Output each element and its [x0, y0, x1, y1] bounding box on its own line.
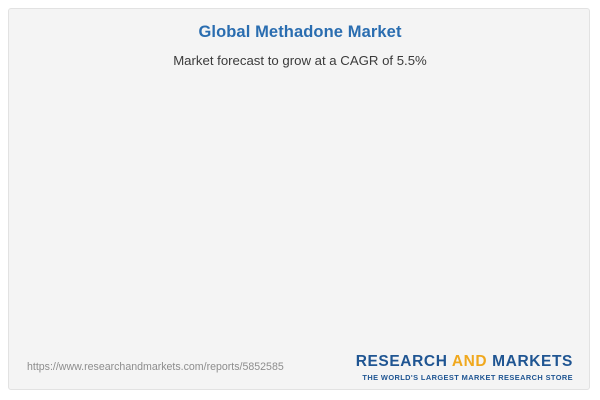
logo-word-markets: MARKETS [492, 353, 573, 370]
logo-word-research: RESEARCH [356, 353, 448, 370]
logo-wordmark: RESEARCH AND MARKETS [356, 353, 573, 371]
logo-tagline: THE WORLD'S LARGEST MARKET RESEARCH STOR… [356, 373, 573, 382]
plot-area: USD 126.6 Million 2023 USD 184.8 Million… [9, 9, 590, 349]
footer: https://www.researchandmarkets.com/repor… [9, 347, 590, 389]
logo-word-and: AND [452, 353, 487, 370]
report-url-link[interactable]: https://www.researchandmarkets.com/repor… [27, 361, 284, 373]
research-and-markets-logo[interactable]: RESEARCH AND MARKETS THE WORLD'S LARGEST… [356, 353, 573, 382]
chart-card: Global Methadone Market Market forecast … [8, 8, 590, 390]
